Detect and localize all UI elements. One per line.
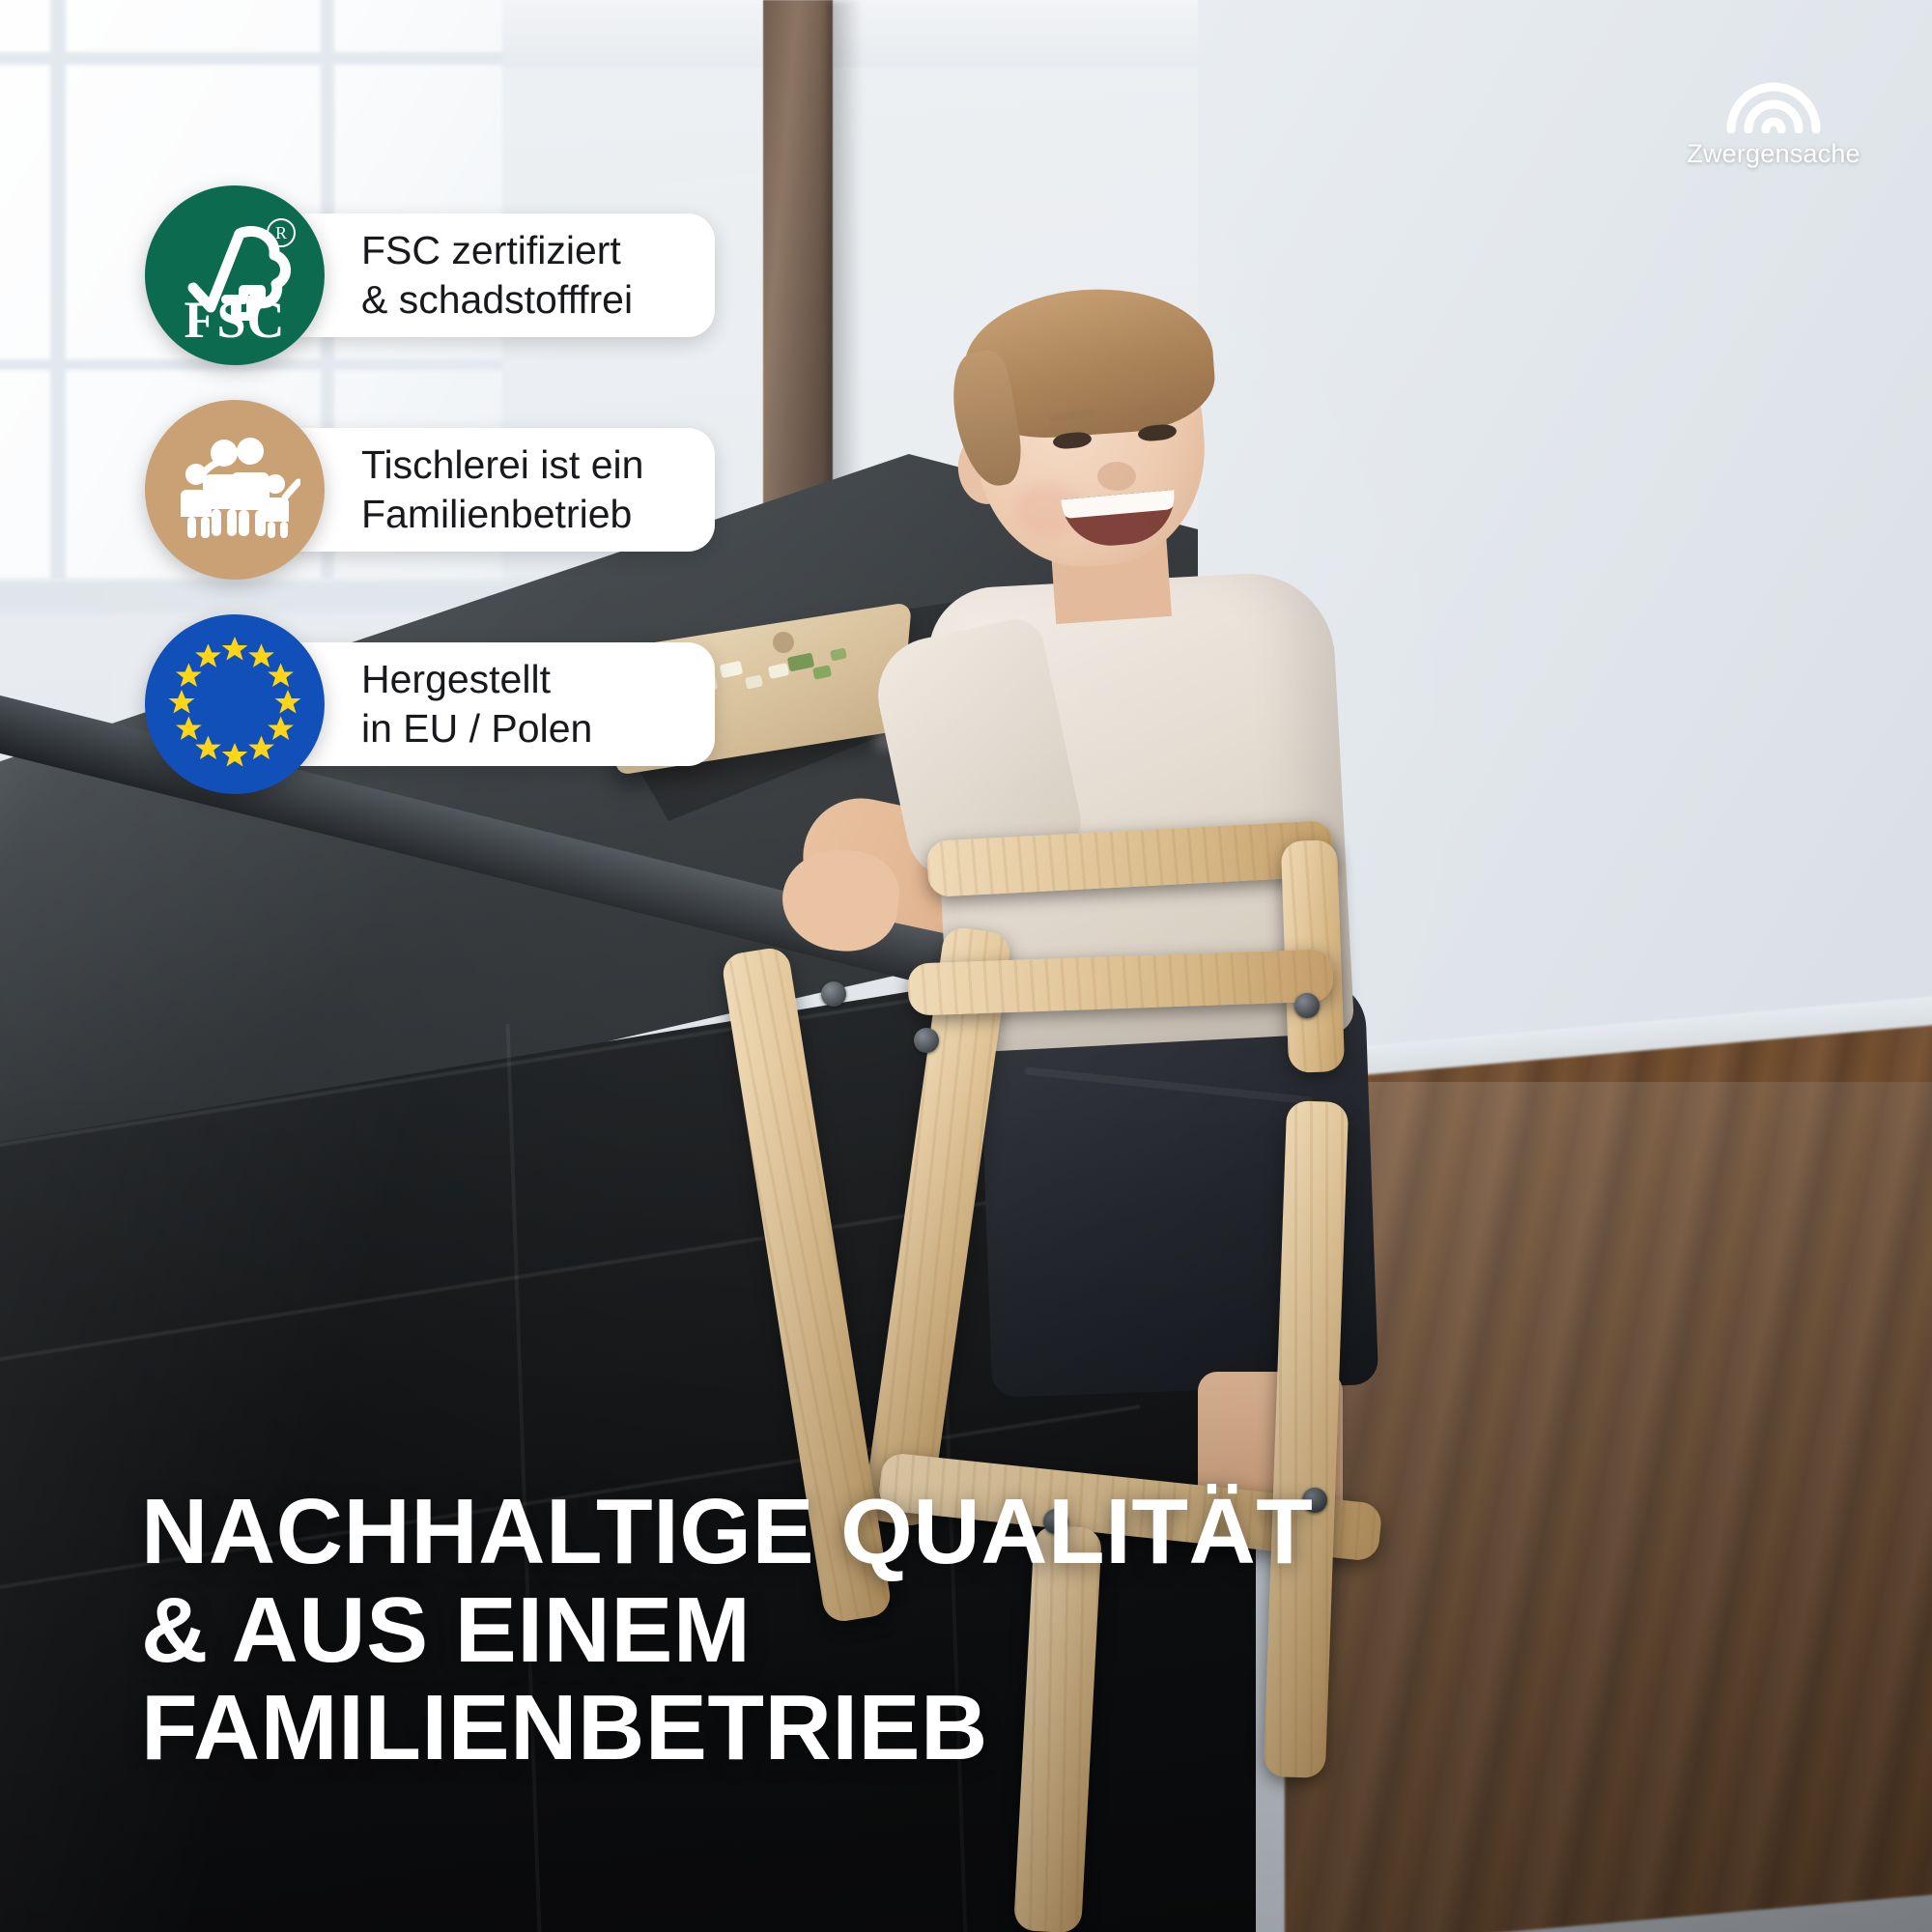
eu-badge-line-2: in EU / Polen: [361, 704, 674, 753]
trust-badge-list: R FSC FSC zertifiziert & schadstofffrei: [145, 185, 715, 794]
tower-bolt: [821, 981, 846, 1007]
brand-name: Zwergensache: [1687, 139, 1861, 169]
window-mullion: [0, 52, 502, 65]
eu-badge-circle: [145, 614, 325, 794]
family-badge-line-1: Tischlerei ist ein: [361, 440, 674, 490]
family-badge-circle: [145, 400, 325, 580]
beam-shadow: [827, 0, 862, 541]
family-badge-pill: Tischlerei ist ein Familienbetrieb: [299, 428, 715, 552]
eu-badge-pill: Hergestellt in EU / Polen: [299, 642, 715, 766]
fsc-wordmark: FSC: [145, 290, 325, 350]
marketing-image: Zwergensache R FSC FSC zertifiziert & sc…: [0, 0, 1932, 1932]
tower-bolt: [1294, 993, 1320, 1018]
fsc-badge-pill: FSC zertifiziert & schadstofffrei: [299, 213, 715, 337]
fsc-badge-line-1: FSC zertifiziert: [361, 226, 674, 275]
tower-handrail: [926, 820, 1334, 897]
tower-post-left: [862, 925, 1012, 1528]
rainbow-arch-icon: [1721, 62, 1826, 133]
fsc-badge-line-2: & schadstofffrei: [361, 275, 674, 325]
eu-badge-line-1: Hergestellt: [361, 655, 674, 704]
toddler-nose: [1097, 462, 1136, 491]
eu-flag-stars-icon: [162, 630, 307, 780]
badge-made-in-eu: Hergestellt in EU / Polen: [145, 614, 715, 794]
tower-bolt: [914, 1028, 939, 1053]
headline-line-3: FAMILIENBETRIEB: [141, 1679, 1397, 1777]
fsc-badge-circle: R FSC: [145, 185, 325, 365]
badge-family-business: Tischlerei ist ein Familienbetrieb: [145, 400, 715, 580]
registered-trademark-icon: R: [267, 218, 296, 247]
window-mullion: [50, 0, 66, 580]
family-group-icon: [169, 434, 300, 547]
badge-fsc: R FSC FSC zertifiziert & schadstofffrei: [145, 185, 715, 365]
brand-logo: Zwergensache: [1662, 62, 1886, 169]
wooden-beam: [763, 0, 833, 541]
headline-line-1: NACHHALTIGE QUALITÄT: [141, 1483, 1397, 1581]
family-badge-line-2: Familienbetrieb: [361, 490, 674, 539]
headline-line-2: & AUS EINEM: [141, 1581, 1397, 1680]
headline: NACHHALTIGE QUALITÄT & AUS EINEM FAMILIE…: [141, 1483, 1397, 1777]
